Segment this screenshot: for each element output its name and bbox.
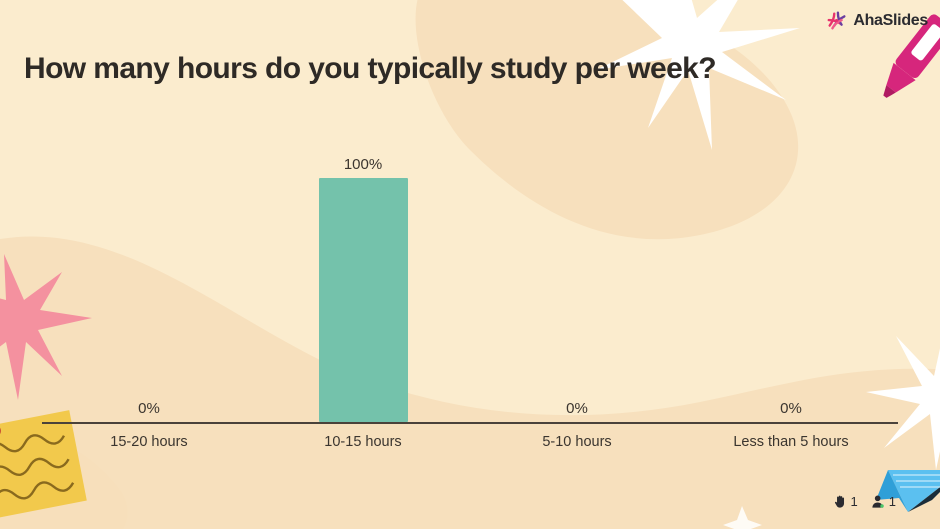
x-axis-label-1: 10-15 hours <box>256 434 470 450</box>
ahaslides-starburst-icon <box>826 10 848 32</box>
x-axis-label-0: 15-20 hours <box>42 434 256 450</box>
chart-x-axis <box>42 422 898 424</box>
person-icon <box>871 494 885 509</box>
sticky-note-pin <box>0 423 2 439</box>
chart-plot-area: 0% 100% 0% 0% <box>42 150 898 422</box>
bar-value-label: 100% <box>344 157 382 172</box>
raised-hand-icon <box>833 494 847 509</box>
ahaslides-logo-text: AhaSlides <box>853 13 928 29</box>
slide-title: How many hours do you typically study pe… <box>24 52 904 87</box>
x-axis-label-3: Less than 5 hours <box>684 434 898 450</box>
bar-column: 0% <box>470 150 684 422</box>
slide-canvas: AhaSlides How many hours do you typicall… <box>0 0 940 529</box>
x-axis-label-2: 5-10 hours <box>470 434 684 450</box>
bar-value-label: 0% <box>138 401 160 416</box>
bar-column: 0% <box>684 150 898 422</box>
ahaslides-logo: AhaSlides <box>826 9 928 33</box>
bar-value-label: 0% <box>566 401 588 416</box>
bar-column: 0% <box>42 150 256 422</box>
votes-counter: 1 <box>833 494 858 509</box>
bar-column: 100% <box>256 150 470 422</box>
participants-count: 1 <box>889 495 896 508</box>
white-sparkle-bottom-right <box>723 506 762 529</box>
bar-1 <box>319 178 408 422</box>
votes-count: 1 <box>851 495 858 508</box>
bar-value-label: 0% <box>780 401 802 416</box>
slide-counters: 1 1 <box>833 494 896 509</box>
chart-x-axis-labels: 15-20 hours 10-15 hours 5-10 hours Less … <box>42 434 898 450</box>
poll-bar-chart: 0% 100% 0% 0% 15-20 hours 10-15 hours 5-… <box>42 150 898 460</box>
participants-counter: 1 <box>871 494 896 509</box>
